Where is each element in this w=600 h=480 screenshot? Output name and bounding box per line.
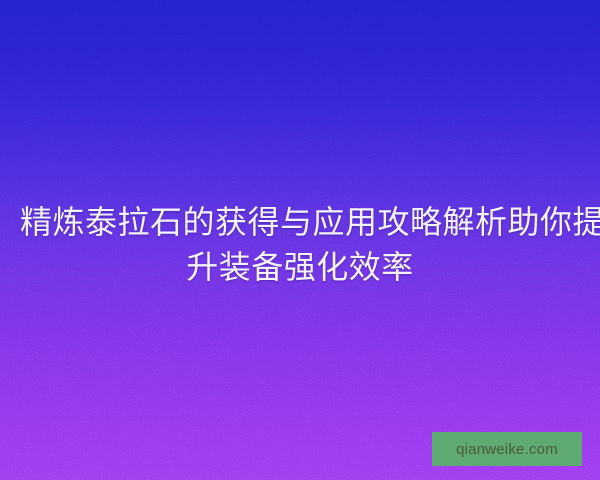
title-line-1: 精炼泰拉石的获得与应用攻略解析助你提 bbox=[20, 200, 580, 245]
poster-canvas: 精炼泰拉石的获得与应用攻略解析助你提 升装备强化效率 qianweike.com bbox=[0, 0, 600, 480]
page-title: 精炼泰拉石的获得与应用攻略解析助你提 升装备强化效率 bbox=[0, 200, 600, 290]
watermark-text: qianweike.com bbox=[456, 442, 558, 457]
title-line-2: 升装备强化效率 bbox=[20, 245, 580, 290]
watermark-badge: qianweike.com bbox=[432, 432, 582, 466]
